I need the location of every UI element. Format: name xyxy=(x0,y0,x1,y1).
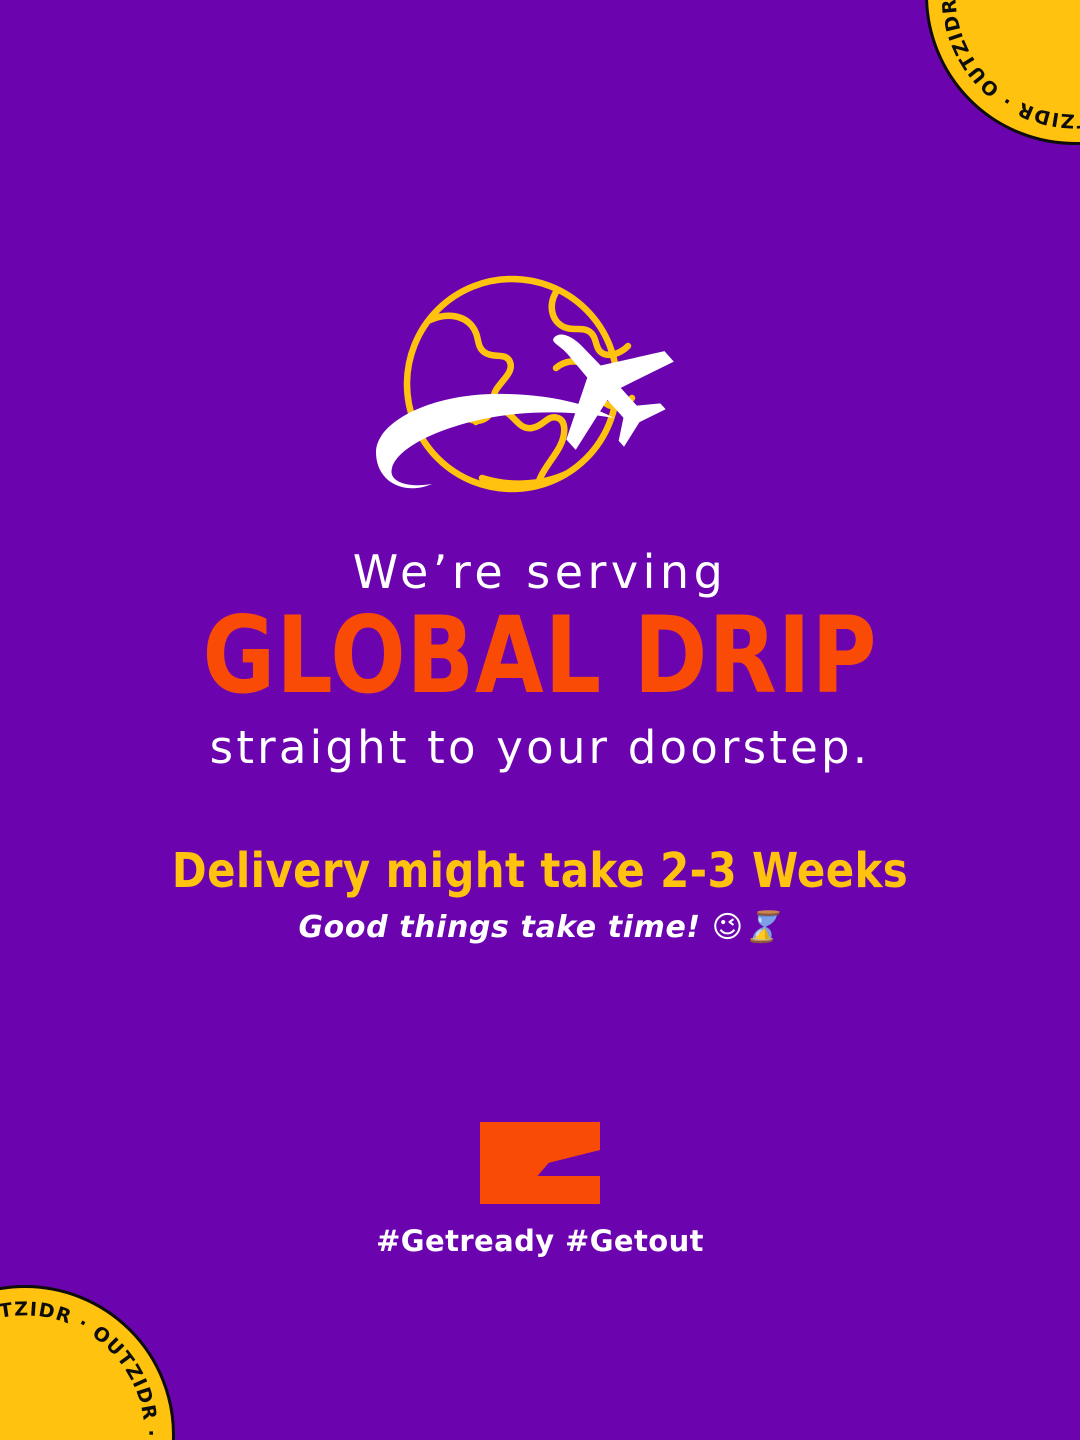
badge-ring-text: OUTZIDR · OUTZIDR · OUTZIDR · OUTZIDR · … xyxy=(928,0,1080,133)
poster-canvas: OUTZIDR · OUTZIDR · OUTZIDR · OUTZIDR · … xyxy=(0,0,1080,1440)
globe-icon xyxy=(360,272,720,517)
tagline-text: Good things take time! 😉⌛ xyxy=(0,912,1080,944)
globe-latitude xyxy=(482,474,566,484)
hashtags-text: #Getready #Getout xyxy=(0,1224,1080,1258)
eyebrow-text: We’re serving xyxy=(0,548,1080,596)
delivery-notice: Delivery might take 2-3 Weeks xyxy=(16,846,1064,896)
badge-bottom-left: OUTZIDR · OUTZIDR · OUTZIDR · OUTZIDR · … xyxy=(0,1285,175,1440)
badge-top-right: OUTZIDR · OUTZIDR · OUTZIDR · OUTZIDR · … xyxy=(925,0,1080,145)
badge-ring-text: OUTZIDR · OUTZIDR · OUTZIDR · OUTZIDR · … xyxy=(0,1288,163,1440)
footer-block: #Getready #Getout xyxy=(0,1120,1080,1258)
subhead-text: straight to your doorstep. xyxy=(0,724,1080,771)
page-title: GLOBAL DRIP xyxy=(38,602,1042,710)
brand-z-logo-icon xyxy=(478,1120,602,1206)
globe-plane-illustration xyxy=(360,272,720,517)
copy-block: We’re serving GLOBAL DRIP straight to yo… xyxy=(0,548,1080,944)
badge-ring-bottom-left: OUTZIDR · OUTZIDR · OUTZIDR · OUTZIDR · … xyxy=(0,1288,172,1440)
globe-continent-bottom xyxy=(476,409,564,484)
airplane-icon xyxy=(510,289,694,472)
badge-ring-top-right: OUTZIDR · OUTZIDR · OUTZIDR · OUTZIDR · … xyxy=(928,0,1080,142)
